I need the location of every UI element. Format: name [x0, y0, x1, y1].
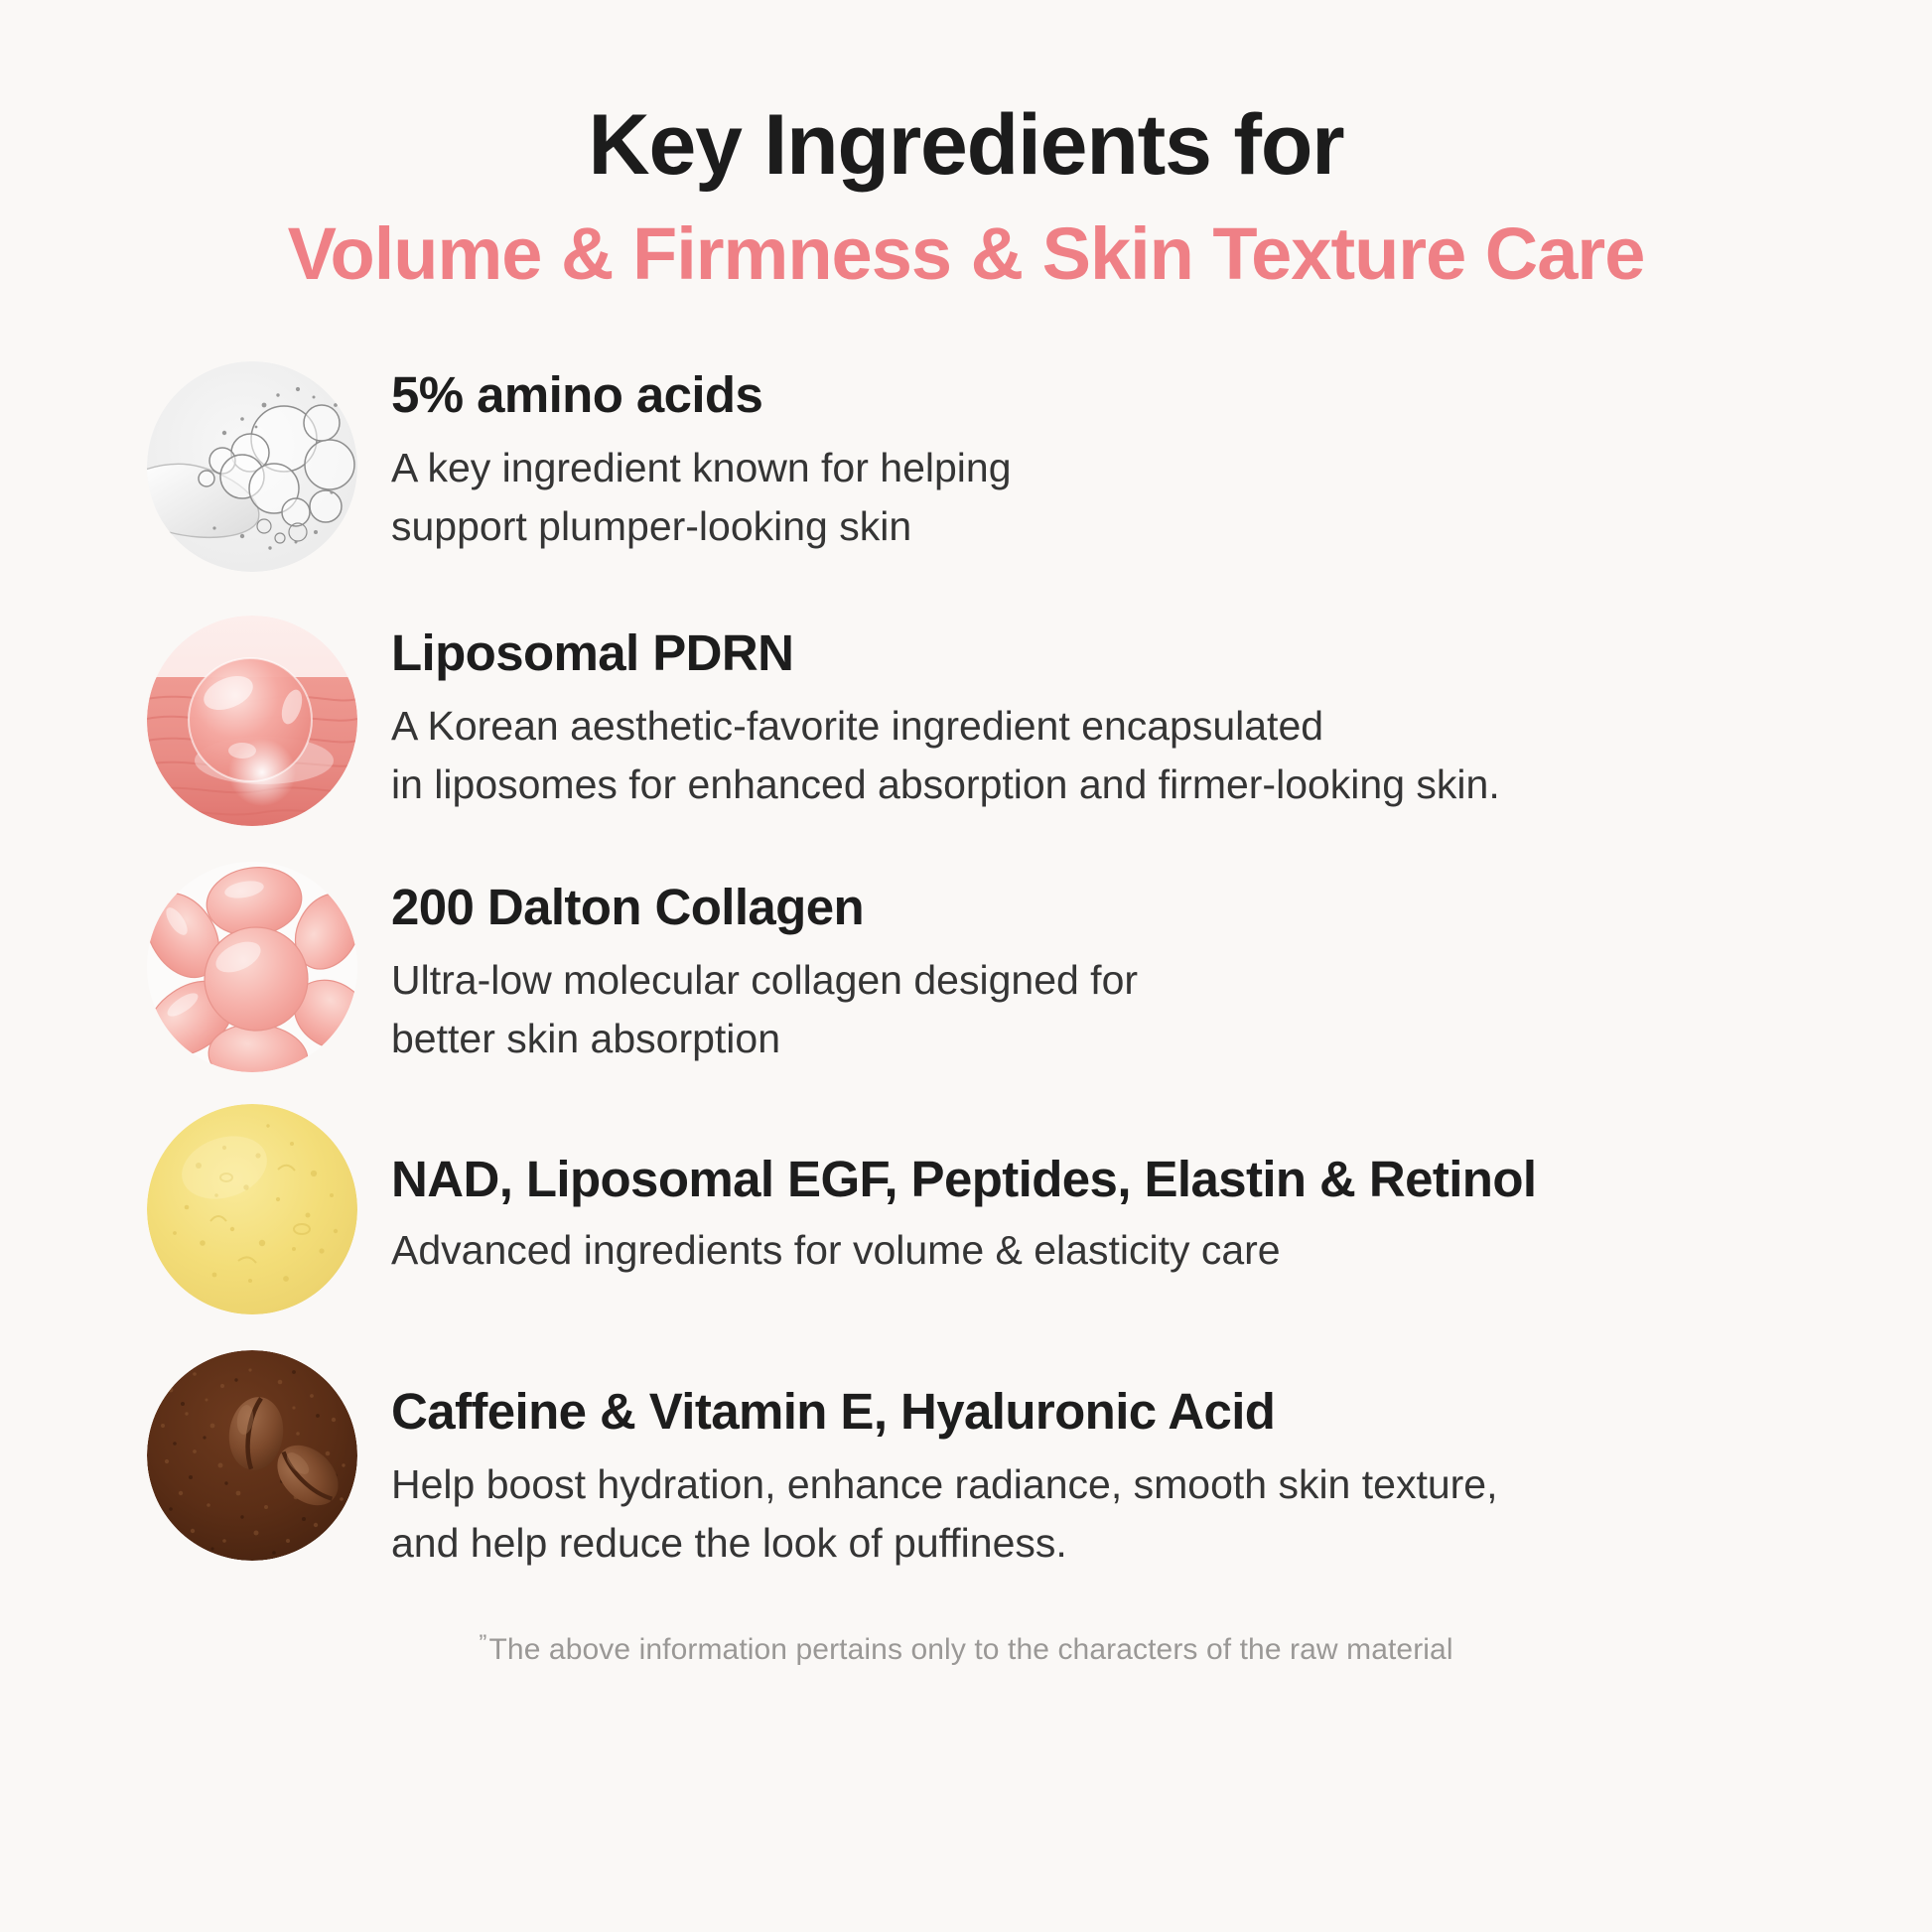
ingredient-name: Liposomal PDRN: [391, 625, 1500, 681]
ingredient-description: A key ingredient known for helping suppo…: [391, 439, 1012, 556]
list-item-text: Liposomal PDRN A Korean aesthetic-favori…: [357, 616, 1500, 814]
list-item-text: Caffeine & Vitamin E, Hyaluronic Acid He…: [357, 1350, 1498, 1573]
heading-block: Key Ingredients for Volume & Firmness & …: [0, 0, 1932, 300]
footnote-mark: ”: [479, 1630, 486, 1657]
pink-collagen-capsules-icon: [147, 862, 357, 1072]
coffee-grounds-beans-icon: [147, 1350, 357, 1561]
page-title: Key Ingredients for: [0, 95, 1932, 196]
ingredient-list: 5% amino acids A key ingredient known fo…: [0, 361, 1932, 1573]
ingredient-name: Caffeine & Vitamin E, Hyaluronic Acid: [391, 1384, 1498, 1440]
ingredient-description: Ultra-low molecular collagen designed fo…: [391, 951, 1138, 1068]
ingredient-name: 5% amino acids: [391, 367, 1012, 423]
page-subtitle: Volume & Firmness & Skin Texture Care: [0, 209, 1932, 299]
list-item: NAD, Liposomal EGF, Peptides, Elastin & …: [0, 1104, 1932, 1314]
list-item-text: NAD, Liposomal EGF, Peptides, Elastin & …: [357, 1104, 1536, 1280]
ingredient-description: A Korean aesthetic-favorite ingredient e…: [391, 697, 1500, 814]
footnote: ”The above information pertains only to …: [0, 1630, 1932, 1667]
list-item-text: 200 Dalton Collagen Ultra-low molecular …: [357, 862, 1138, 1068]
footnote-text: The above information pertains only to t…: [488, 1633, 1452, 1666]
ingredient-description: Advanced ingredients for volume & elasti…: [391, 1221, 1536, 1280]
list-item-text: 5% amino acids A key ingredient known fo…: [357, 361, 1012, 556]
ingredient-description: Help boost hydration, enhance radiance, …: [391, 1455, 1498, 1573]
list-item: Caffeine & Vitamin E, Hyaluronic Acid He…: [0, 1350, 1932, 1573]
ingredient-name: 200 Dalton Collagen: [391, 880, 1138, 935]
ingredients-infographic: Key Ingredients for Volume & Firmness & …: [0, 0, 1932, 1932]
list-item: 5% amino acids A key ingredient known fo…: [0, 361, 1932, 572]
ingredient-name: NAD, Liposomal EGF, Peptides, Elastin & …: [391, 1152, 1536, 1207]
yellow-powder-circle-icon: [147, 1104, 357, 1314]
pink-liposome-sphere-icon: [147, 616, 357, 826]
list-item: Liposomal PDRN A Korean aesthetic-favori…: [0, 616, 1932, 826]
list-item: 200 Dalton Collagen Ultra-low molecular …: [0, 862, 1932, 1072]
serum-bubbles-icon: [147, 361, 357, 572]
